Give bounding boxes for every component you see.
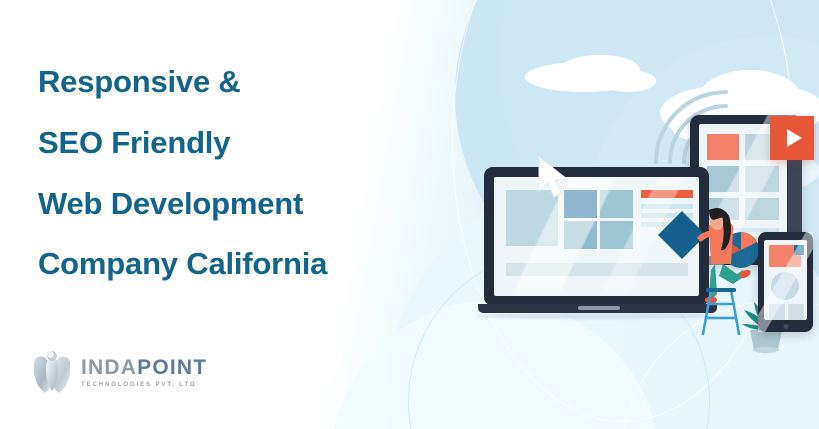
laptop-header-bar xyxy=(641,190,693,198)
company-logo[interactable]: INDAPOINT TECHNOLOGIES PVT. LTD xyxy=(30,349,207,395)
logo-tagline: TECHNOLOGIES PVT. LTD xyxy=(81,381,207,388)
logo-word-part-2: POINT xyxy=(137,356,207,379)
ladder-icon xyxy=(700,288,742,336)
logo-wordmark: INDAPOINT xyxy=(81,357,207,378)
headline-line-3: Web Development xyxy=(38,174,438,235)
phone-tile xyxy=(788,304,804,320)
laptop-text-line xyxy=(641,204,693,209)
play-button[interactable] xyxy=(770,116,814,160)
promo-banner: Responsive & SEO Friendly Web Developmen… xyxy=(0,0,819,429)
tablet-tile xyxy=(745,166,779,192)
laptop-tile xyxy=(600,190,633,218)
laptop-shadow xyxy=(476,313,720,319)
leaf-person-logo-icon xyxy=(30,349,74,395)
laptop-trackpad-notch xyxy=(578,306,620,310)
headline-line-1: Responsive & xyxy=(38,52,438,113)
headline-line-2: SEO Friendly xyxy=(38,113,438,174)
phone-screen xyxy=(764,240,807,320)
logo-word-part-1: INDA xyxy=(81,356,137,379)
laptop-footer-block xyxy=(506,263,688,276)
phone-tile xyxy=(769,304,785,320)
smartphone-icon xyxy=(758,232,813,332)
laptop-tile xyxy=(564,221,597,249)
headline-line-4: Company California xyxy=(38,234,438,295)
phone-home-button xyxy=(783,324,788,329)
play-icon xyxy=(787,129,802,147)
page-title: Responsive & SEO Friendly Web Developmen… xyxy=(38,52,438,295)
laptop-tile xyxy=(600,221,633,249)
phone-avatar-circle xyxy=(771,272,799,300)
cursor-arrow-icon xyxy=(537,155,573,203)
tablet-accent-tile xyxy=(707,134,739,160)
phone-accent-square xyxy=(794,245,804,255)
logo-text-group: INDAPOINT TECHNOLOGIES PVT. LTD xyxy=(81,357,207,388)
